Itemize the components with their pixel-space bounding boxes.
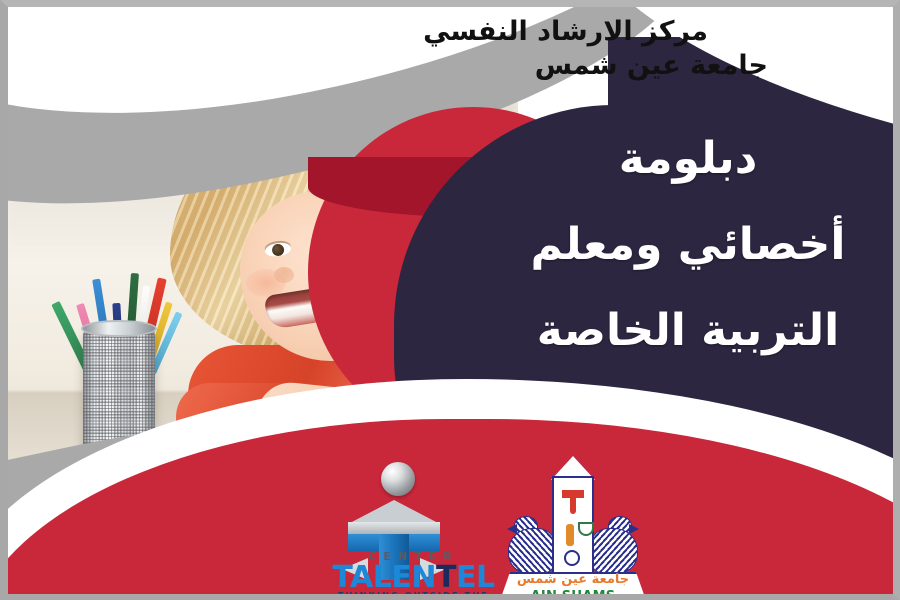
talentel-word-part-1: TALEN bbox=[332, 560, 436, 594]
falcon-icon-left bbox=[504, 516, 558, 580]
title-line-3: التربية الخاصة bbox=[478, 309, 893, 353]
talentel-word-part-2: T bbox=[436, 560, 456, 594]
sphere-icon bbox=[381, 462, 415, 496]
header-line-1: مركز الارشاد النفسي bbox=[148, 15, 708, 49]
page-title: دبلومة أخصائي ومعلم التربية الخاصة bbox=[478, 137, 893, 353]
ain-shams-arabic-label: جامعة عين شمس bbox=[498, 573, 648, 587]
logo-plate bbox=[348, 522, 440, 534]
ain-shams-english-label: AIN SHAMS UNIVERSITY bbox=[494, 589, 652, 594]
falcon-beak-right bbox=[629, 524, 639, 534]
poster-canvas: مركز الارشاد النفسي جامعة عين شمس دبلومة… bbox=[8, 7, 893, 594]
obelisk-glyph-circle bbox=[564, 550, 580, 566]
title-line-2: أخصائي ومعلم bbox=[478, 223, 893, 267]
pyramid-icon bbox=[348, 500, 440, 524]
obelisk-glyph-orange bbox=[566, 524, 574, 546]
talentel-wordmark: TALENTEL bbox=[326, 563, 501, 593]
header-text: مركز الارشاد النفسي جامعة عين شمس bbox=[148, 15, 708, 83]
falcon-icon-right bbox=[588, 516, 642, 580]
cup-rim bbox=[81, 320, 157, 337]
title-line-1: دبلومة bbox=[478, 137, 893, 181]
poster-root: مركز الارشاد النفسي جامعة عين شمس دبلومة… bbox=[0, 0, 900, 600]
obelisk-glyph-red-bar bbox=[562, 490, 584, 498]
header-line-2: جامعة عين شمس bbox=[148, 49, 768, 83]
child-nose bbox=[274, 267, 294, 283]
falcon-body-left bbox=[508, 528, 556, 574]
falcon-body-right bbox=[590, 528, 638, 574]
talentel-logo: CENTER TALENTEL THINKING OUTSIDE THE BOX… bbox=[326, 462, 501, 594]
ain-shams-university-logo: جامعة عين شمس AIN SHAMS UNIVERSITY bbox=[488, 472, 658, 594]
talentel-tagline-1: THINKING OUTSIDE THE BOX bbox=[326, 591, 501, 594]
obelisk-glyph-red-stem bbox=[570, 498, 576, 514]
